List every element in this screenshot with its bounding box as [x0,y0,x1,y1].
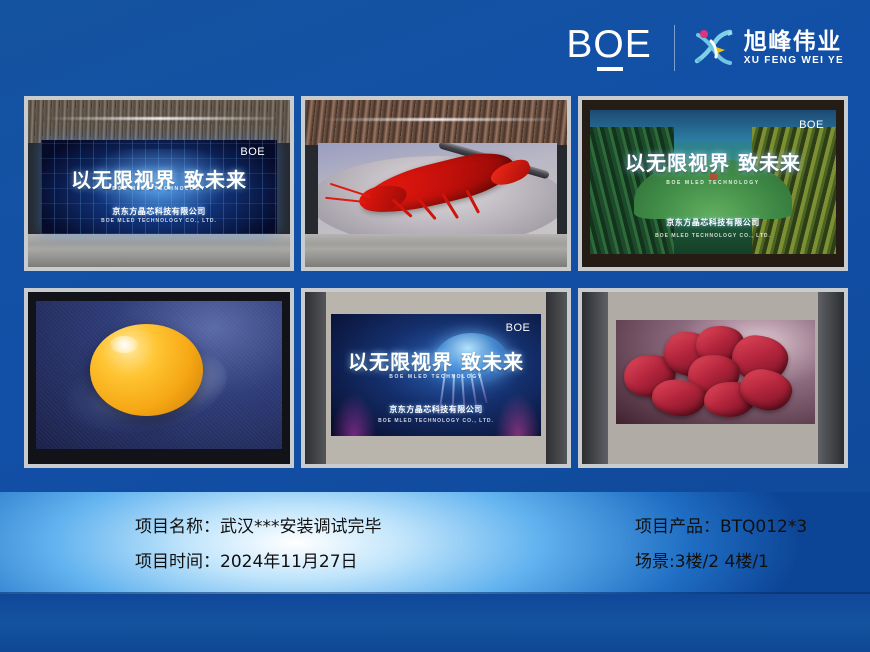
logo-divider [674,25,675,71]
scene-ceiling [305,100,567,145]
photo-image-3: BOE 以无限视界 致未来 BOE MLED TECHNOLOGY 京东方晶芯科… [582,100,844,267]
led-screen-3: BOE 以无限视界 致未来 BOE MLED TECHNOLOGY 京东方晶芯科… [590,110,836,254]
egg-yolk-shape [90,324,203,416]
screen-company-cn: 京东方晶芯科技有限公司 [590,217,836,228]
screen-boe-logo: BOE [506,322,531,334]
project-name-row: 项目名称：武汉***安装调试完毕 [135,517,635,538]
poster-root: BOE 旭峰伟业 XU FENG WEI YE [0,0,870,652]
bottom-filler [0,594,870,652]
partner-logo: 旭峰伟业 XU FENG WEI YE [691,27,844,69]
screen-slogan-en: BOE MLED TECHNOLOGY [331,374,541,380]
project-time-value: 2024年11月27日 [220,552,358,572]
screen-company-en: BOE MLED TECHNOLOGY CO., LTD. [41,218,277,224]
led-screen-5: BOE 以无限视界 致未来 BOE MLED TECHNOLOGY 京东方晶芯科… [331,314,541,436]
photo-image-6 [582,292,844,464]
photo-frame-6[interactable] [578,288,848,468]
boe-logo: BOE [566,25,673,71]
screen-boe-logo: BOE [240,146,265,158]
screen-slogan-cn: 以无限视界 致未来 [590,147,836,176]
screen-boe-logo: BOE [799,119,824,131]
scene-value: 3楼/2 4楼/1 [675,552,769,572]
header-bar: BOE 旭峰伟业 XU FENG WEI YE [0,0,870,96]
project-name-value: 武汉***安装调试完毕 [220,517,382,537]
scene-wall-right [546,292,567,464]
project-time-row: 项目时间：2024年11月27日 [135,552,635,573]
xufeng-mascot-icon [691,27,735,69]
scene-floor [28,234,290,267]
project-product-row: 项目产品：BTQ012*3 [635,517,870,538]
project-product-value: BTQ012*3 [720,517,807,537]
screen-company-en: BOE MLED TECHNOLOGY CO., LTD. [590,233,836,239]
screen-company-cn: 京东方晶芯科技有限公司 [41,206,277,217]
led-screen-4 [36,301,282,449]
project-name-label: 项目名称： [135,517,220,537]
scene-row: 场景:3楼/2 4楼/1 [635,552,870,573]
photo-frame-5[interactable]: BOE 以无限视界 致未来 BOE MLED TECHNOLOGY 京东方晶芯科… [301,288,571,468]
partner-name-cn: 旭峰伟业 [744,30,844,54]
partner-name-en: XU FENG WEI YE [744,56,844,66]
led-screen-6 [616,320,815,425]
project-info-grid: 项目名称：武汉***安装调试完毕 项目产品：BTQ012*3 项目时间：2024… [0,492,870,594]
logo-lockup: BOE 旭峰伟业 XU FENG WEI YE [566,20,844,76]
screen-company-cn: 京东方晶芯科技有限公司 [331,404,541,415]
photo-image-5: BOE 以无限视界 致未来 BOE MLED TECHNOLOGY 京东方晶芯科… [305,292,567,464]
led-screen-2 [318,143,556,233]
boe-wordmark-text: BOE [566,25,651,64]
photo-frame-1[interactable]: BOE 以无限视界 致未来 BOE MLED TECHNOLOGY 京东方晶芯科… [24,96,294,271]
scene-floor [305,234,567,267]
led-screen-1: BOE 以无限视界 致未来 BOE MLED TECHNOLOGY 京东方晶芯科… [41,140,277,234]
scene-wall-left [582,292,608,464]
project-info-band: 项目名称：武汉***安装调试完毕 项目产品：BTQ012*3 项目时间：2024… [0,492,870,594]
screen-company-en: BOE MLED TECHNOLOGY CO., LTD. [331,418,541,424]
photo-image-4 [28,292,290,464]
boe-underline-mark [597,67,623,71]
photo-image-2 [305,100,567,267]
scene-wall-right [818,292,844,464]
photo-frame-2[interactable] [301,96,571,271]
photo-grid: BOE 以无限视界 致未来 BOE MLED TECHNOLOGY 京东方晶芯科… [24,96,848,468]
partner-text-block: 旭峰伟业 XU FENG WEI YE [744,30,844,66]
screen-slogan-en: BOE MLED TECHNOLOGY [41,186,277,192]
photo-frame-3[interactable]: BOE 以无限视界 致未来 BOE MLED TECHNOLOGY 京东方晶芯科… [578,96,848,271]
screen-slogan-cn: 以无限视界 致未来 [331,346,541,375]
photo-frame-4[interactable] [24,288,294,468]
scene-ceiling [28,100,290,143]
project-time-label: 项目时间： [135,552,220,572]
screen-slogan-en: BOE MLED TECHNOLOGY [590,180,836,186]
photo-image-1: BOE 以无限视界 致未来 BOE MLED TECHNOLOGY 京东方晶芯科… [28,100,290,267]
scene-label: 场景: [635,552,675,572]
project-product-label: 项目产品： [635,517,720,537]
scene-wall-left [305,292,326,464]
